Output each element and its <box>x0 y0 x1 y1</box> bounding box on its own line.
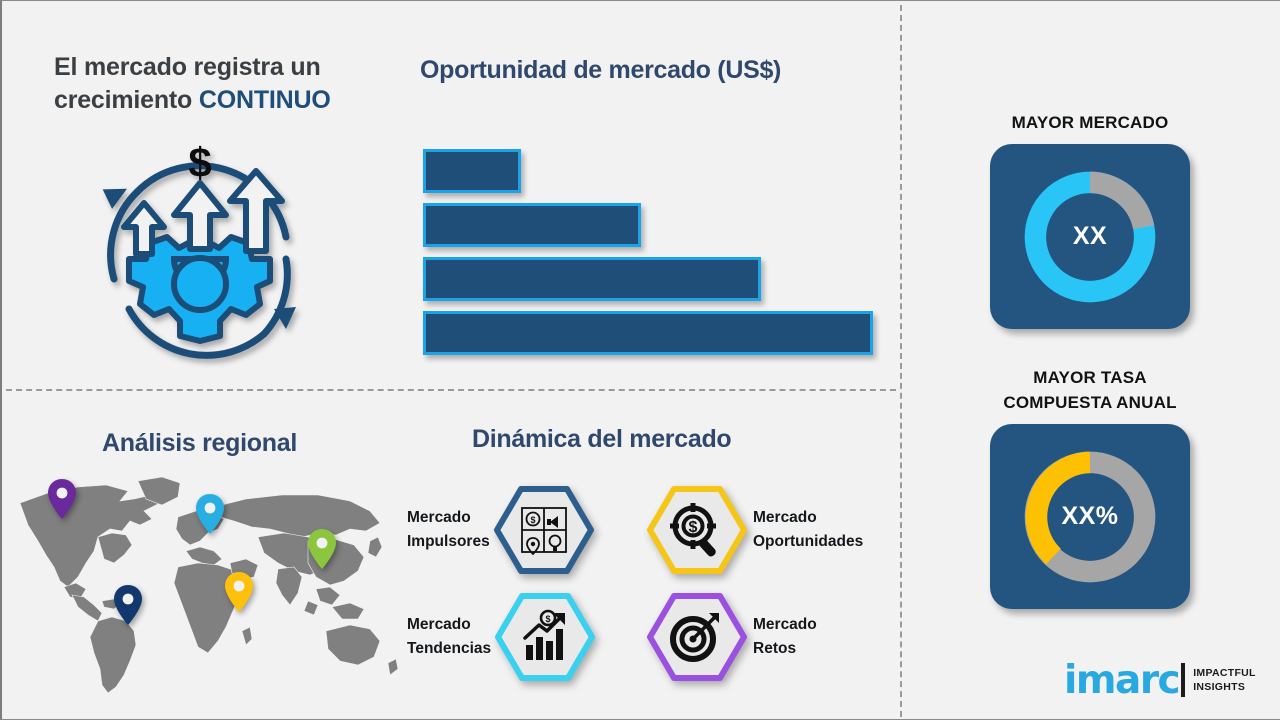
dynamics-item-drivers[interactable]: Mercado Impulsores $ <box>407 486 594 574</box>
infographic-canvas: El mercado registra un crecimiento CONTI… <box>0 0 1280 720</box>
map-pin-latin-america[interactable] <box>113 584 143 626</box>
kpi-card-highest-cagr: XX% <box>990 424 1190 609</box>
dollar-symbol: $ <box>188 139 211 186</box>
dynamics-item-challenges[interactable]: Mercado Retos <box>647 593 817 681</box>
kpi-title-highest-cagr: MAYOR TASA COMPUESTA ANUAL <box>940 366 1240 415</box>
dynamics-item-trends[interactable]: Mercado Tendencias $ <box>407 593 595 681</box>
dynamics-item-drivers-label: Mercado Impulsores <box>407 506 490 554</box>
imarc-logo: imarc IMPACTFUL INSIGHTS <box>1064 656 1269 704</box>
kpi-title-largest-market: MAYOR MERCADO <box>940 111 1240 136</box>
opportunity-heading: Oportunidad de mercado (US$) <box>420 56 781 85</box>
bar-row <box>423 311 873 355</box>
dynamics-item-trends-label: Mercado Tendencias <box>407 613 491 661</box>
dynamics-item-trends-hex[interactable]: $ <box>495 593 595 681</box>
svg-text:$: $ <box>530 515 535 525</box>
dynamics-item-opportunities-hex[interactable]: $ <box>647 486 747 574</box>
map-pin-middle-east-africa[interactable] <box>224 571 254 613</box>
growth-heading-line2-plain: crecimiento <box>54 86 199 114</box>
dynamics-heading: Dinámica del mercado <box>472 425 731 454</box>
dynamics-item-opportunities[interactable]: $ Mercado Oportunidades <box>647 486 863 574</box>
logo-divider <box>1181 663 1185 697</box>
world-map <box>2 471 402 701</box>
regional-heading: Análisis regional <box>102 429 297 458</box>
dynamics-item-opportunities-label: Mercado Oportunidades <box>753 506 863 554</box>
vertical-divider <box>900 5 902 717</box>
growth-gear-arrows-icon: $ <box>74 129 324 369</box>
dynamics-item-drivers-hex[interactable]: $ <box>494 486 594 574</box>
map-pin-europe[interactable] <box>195 493 225 535</box>
opportunity-bar-chart <box>420 146 880 356</box>
highest-cagr-value: XX% <box>1061 502 1118 531</box>
dynamics-item-challenges-hex[interactable] <box>647 593 747 681</box>
horizontal-divider <box>6 389 896 391</box>
imarc-logo-tagline: IMPACTFUL INSIGHTS <box>1193 666 1256 694</box>
growth-heading: El mercado registra un crecimiento CONTI… <box>54 51 394 117</box>
kpi-card-largest-market: XX <box>990 144 1190 329</box>
imarc-logo-wordmark: imarc <box>1064 661 1179 700</box>
largest-market-value: XX <box>1073 222 1107 251</box>
svg-text:$: $ <box>689 519 698 536</box>
map-pin-asia-pacific[interactable] <box>307 528 337 570</box>
svg-text:$: $ <box>546 614 551 624</box>
bar-row <box>423 149 521 193</box>
map-pin-north-america[interactable] <box>47 478 77 520</box>
bar-row <box>423 203 641 247</box>
growth-heading-line1: El mercado registra un <box>54 53 321 81</box>
dynamics-item-challenges-label: Mercado Retos <box>753 613 817 661</box>
bar-row <box>423 257 761 301</box>
growth-heading-accent: CONTINUO <box>199 86 331 114</box>
